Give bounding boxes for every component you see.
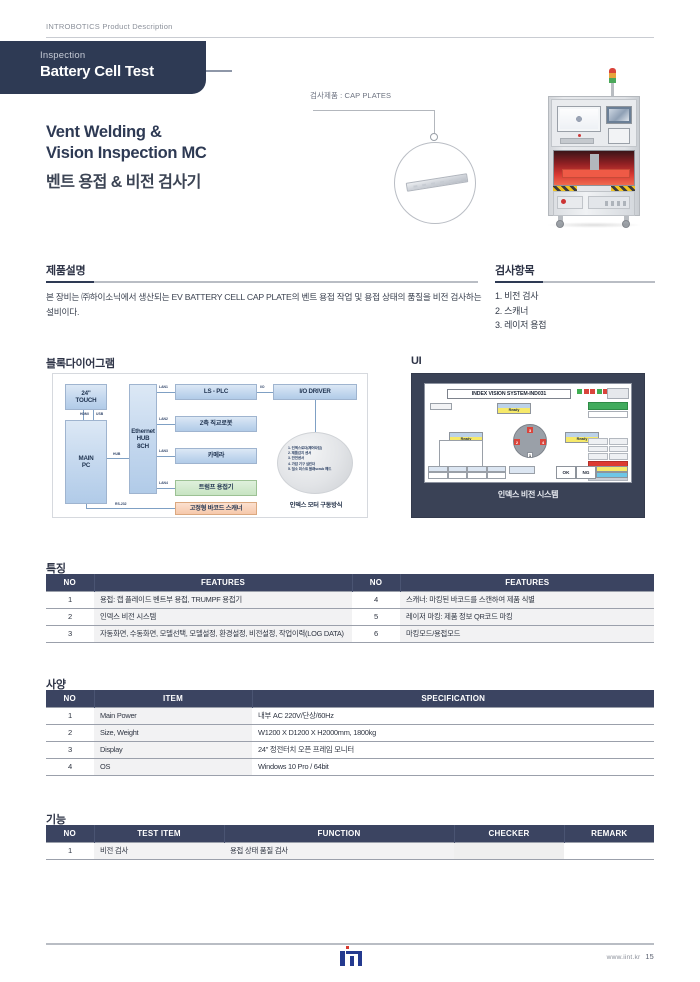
page-title: Vent Welding & Vision Inspection MC	[46, 122, 207, 164]
page-title-line2: Vision Inspection MC	[46, 144, 207, 162]
cell-no: 3	[46, 625, 94, 642]
block-diagram-heading: 블록다이어그램	[46, 355, 115, 371]
cell-no: 1	[46, 591, 94, 608]
block-diagram: HDMI USB HUB LAN1 LAN2 LAN3 LAN4 RS-232 …	[52, 373, 368, 518]
column-header-function: FUNCTION	[224, 825, 454, 842]
cell-remark	[564, 842, 654, 859]
product-description-heading: 제품설명	[46, 262, 85, 278]
cell-no: 2	[46, 724, 94, 741]
column-header-remark: REMARK	[564, 825, 654, 842]
cell-no-2: 6	[352, 625, 400, 642]
machine-side-display	[606, 106, 632, 124]
diagram-node-main-pc: MAIN PC	[65, 420, 107, 504]
ui-caption: 인덱스 비전 시스템	[411, 489, 645, 500]
footer-meta: www.iint.kr15	[607, 952, 654, 961]
column-header-no: NO	[46, 825, 94, 842]
link-label-io: I/O	[260, 385, 265, 389]
table-header-row: NO TEST ITEM FUNCTION CHECKER REMARK	[46, 825, 654, 842]
diagram-circle-item: 5. 질소 미스트 블래scrub 헤드	[288, 467, 346, 472]
diagram-node-io-driver: I/O DRIVER	[273, 384, 357, 400]
link-label-hdmi: HDMI	[80, 412, 89, 416]
cell-feature-2: 스캐너: 마킹된 바코드를 스캔하여 제품 식별	[400, 591, 654, 608]
ui-index-pos-1: 1	[527, 452, 533, 458]
ui-screen-title: INDEX VISION SYSTEM-IND031	[447, 389, 571, 399]
features-table: NO FEATURES NO FEATURES 1 용접: 캡 플레이드 벤트부…	[46, 574, 654, 643]
cell-feature: 용접: 캡 플레이드 벤트부 용접, TRUMPF 용접기	[94, 591, 352, 608]
column-header-no: NO	[46, 690, 94, 707]
cell-feature-2: 레이저 마킹: 제품 정보 QR코드 마킹	[400, 608, 654, 625]
cell-function: 용접 상태 품질 검사	[224, 842, 454, 859]
header-divider	[46, 37, 654, 38]
banner-title: Battery Cell Test	[40, 63, 154, 80]
ui-index-pos-3: 3	[527, 427, 533, 433]
cell-no: 2	[46, 608, 94, 625]
link-touch-pc-2	[93, 410, 94, 420]
link-label-lan2: LAN2	[159, 417, 168, 421]
link-pc-scanner-drop	[86, 504, 87, 509]
table-row: 1 용접: 캡 플레이드 벤트부 용접, TRUMPF 용접기 4 스캐너: 마…	[46, 591, 654, 608]
ui-start-stop-buttons[interactable]	[596, 466, 628, 479]
cell-specification: Windows 10 Pro / 64bit	[252, 758, 654, 775]
inspection-items-heading: 검사항목	[495, 262, 534, 278]
footer-page-number: 15	[645, 952, 654, 961]
cell-item: Main Power	[94, 707, 252, 724]
diagram-node-camera: 카메라	[175, 448, 257, 464]
inspection-item: 3. 레이저 용접	[495, 318, 546, 333]
link-hub-welder	[157, 488, 175, 489]
machine-shadow	[546, 222, 642, 228]
cell-specification: 24" 정전터치 오픈 프레임 모니터	[252, 741, 654, 758]
table-header-row: NO ITEM SPECIFICATION	[46, 690, 654, 707]
column-header-features-2: FEATURES	[400, 574, 654, 591]
machine-control-box-2	[588, 196, 630, 209]
column-header-item: ITEM	[94, 690, 252, 707]
link-hub-zrobot	[157, 424, 175, 425]
column-header-no: NO	[46, 574, 94, 591]
diagram-circle-caption: 인덱스 모터 구동방식	[275, 500, 357, 509]
page-title-line1: Vent Welding &	[46, 123, 162, 141]
ui-counter-table	[428, 466, 506, 479]
table-row: 3 자동화면, 수동화면, 모델선택, 모델설정, 환경설정, 비전설정, 작업…	[46, 625, 654, 642]
ui-index-pos-2: 2	[514, 439, 520, 445]
cell-specification: W1200 X D1200 X H2000mm, 1800kg	[252, 724, 654, 741]
link-label-usb: USB	[96, 412, 103, 416]
callout-leader-vertical	[434, 110, 435, 135]
column-header-checker: CHECKER	[454, 825, 564, 842]
table-row: 1 비전 검사 용접 상태 품질 검사	[46, 842, 654, 859]
page-title-korean: 벤트 용접 & 비전 검사기	[46, 168, 201, 192]
callout-anchor-dot-icon	[430, 133, 438, 141]
cell-feature: 인덱스 비전 시스템	[94, 608, 352, 625]
ui-mode-tab	[430, 403, 452, 410]
diagram-node-touch: 24" TOUCH	[65, 384, 107, 410]
ui-ng-button[interactable]: NG	[576, 466, 596, 479]
cell-feature-2: 마킹모드/용접모드	[400, 625, 654, 642]
machine-work-chamber	[553, 150, 635, 186]
footer-url: www.iint.kr	[607, 954, 641, 961]
ui-index-pos-4: 4	[540, 439, 546, 445]
ui-station-top: Ready	[497, 403, 531, 414]
inspection-items-rule	[495, 281, 655, 283]
footer-divider	[46, 943, 654, 945]
link-label-lan3: LAN3	[159, 449, 168, 453]
diagram-node-welder: 트럼프 용접기	[175, 480, 257, 496]
machine-slot	[560, 138, 594, 144]
table-row: 3 Display 24" 정전터치 오픈 프레임 모니터	[46, 741, 654, 758]
table-row: 1 Main Power 내부 AC 220V/단상/60Hz	[46, 707, 654, 724]
ui-section-heading: UI	[411, 355, 421, 367]
cell-test-item: 비전 검사	[94, 842, 224, 859]
ui-toolbar-buttons	[607, 388, 629, 399]
document-kicker: INTROBOTICS Product Description	[46, 22, 173, 31]
cell-item: Size, Weight	[94, 724, 252, 741]
cell-checker	[454, 842, 564, 859]
banner-tail-line	[206, 70, 232, 72]
column-header-test-item: TEST ITEM	[94, 825, 224, 842]
callout-label: 검사제품 : CAP PLATES	[310, 90, 391, 101]
diagram-node-scanner: 고정형 바코드 스캐너	[175, 502, 257, 515]
ui-right-panel	[588, 402, 628, 465]
ui-ok-button[interactable]: OK	[556, 466, 576, 479]
cell-no-2: 5	[352, 608, 400, 625]
ui-result-row	[588, 411, 628, 418]
cell-item: Display	[94, 741, 252, 758]
product-description-rule	[46, 281, 478, 283]
machine-hmi-screen	[557, 106, 601, 132]
machine-secondary-panel	[608, 128, 630, 144]
column-header-no-2: NO	[352, 574, 400, 591]
link-label-hub: HUB	[113, 452, 120, 456]
inspection-item: 1. 비전 검사	[495, 289, 546, 304]
banner-subtitle: Inspection	[40, 50, 85, 61]
company-logo	[340, 946, 362, 966]
cell-specification: 내부 AC 220V/단상/60Hz	[252, 707, 654, 724]
cell-no: 1	[46, 842, 94, 859]
callout-leader-horizontal	[313, 110, 435, 111]
cell-no: 1	[46, 707, 94, 724]
diagram-node-z-robot: Z축 직교로봇	[175, 416, 257, 432]
table-row: 4 OS Windows 10 Pro / 64bit	[46, 758, 654, 775]
cell-no-2: 4	[352, 591, 400, 608]
link-plc-io	[257, 392, 273, 393]
ui-station-top-status: Ready	[498, 408, 530, 413]
diagram-node-plc: LS - PLC	[175, 384, 257, 400]
product-description-body: 본 장비는 ㈜하이소닉에서 생산되는 EV BATTERY CELL CAP P…	[46, 290, 482, 320]
link-label-lan1: LAN1	[159, 385, 168, 389]
emergency-stop-icon	[561, 199, 566, 204]
cell-feature: 자동화면, 수동화면, 모델선택, 모델설정, 환경설정, 비전설정, 작업이력…	[94, 625, 352, 642]
cell-item: OS	[94, 758, 252, 775]
ui-bottom-bar: OK NG	[428, 466, 628, 479]
section-banner: Inspection Battery Cell Test	[0, 41, 206, 94]
diagram-circle: 1. 인덱스로더(제어타입) 2. 제품감지 센서 3. 안전센서 4. 가압 …	[277, 432, 353, 494]
machine-indicator-icon	[578, 134, 581, 137]
link-pc-scanner	[86, 508, 175, 509]
link-label-rs232: RS-232	[115, 502, 127, 506]
link-hub-camera	[157, 456, 175, 457]
ui-image-preview	[439, 440, 483, 468]
column-header-features: FEATURES	[94, 574, 352, 591]
link-io-circle	[315, 400, 316, 432]
ui-judgement: OK NG	[556, 466, 596, 479]
link-pc-hub	[107, 458, 129, 459]
machine-photo	[540, 62, 648, 227]
inspection-items-list: 1. 비전 검사 2. 스캐너 3. 레이저 용접	[495, 289, 546, 333]
page: INTROBOTICS Product Description Inspecti…	[0, 0, 700, 982]
column-header-specification: SPECIFICATION	[252, 690, 654, 707]
inspection-item: 2. 스캐너	[495, 304, 546, 319]
cell-no: 3	[46, 741, 94, 758]
signal-tower-icon	[609, 68, 616, 98]
ui-count-grid	[588, 438, 628, 460]
function-table: NO TEST ITEM FUNCTION CHECKER REMARK 1 비…	[46, 825, 654, 860]
specification-table: NO ITEM SPECIFICATION 1 Main Power 내부 AC…	[46, 690, 654, 776]
table-row: 2 인덱스 비전 시스템 5 레이저 마킹: 제품 정보 QR코드 마킹	[46, 608, 654, 625]
cell-no: 4	[46, 758, 94, 775]
diagram-node-ethernet-hub: Ethernet HUB 8CH	[129, 384, 157, 494]
ui-result-banner	[588, 402, 628, 410]
table-row: 2 Size, Weight W1200 X D1200 X H2000mm, …	[46, 724, 654, 741]
table-header-row: NO FEATURES NO FEATURES	[46, 574, 654, 591]
link-label-lan4: LAN4	[159, 481, 168, 485]
ui-screenshot: INDEX VISION SYSTEM-IND031 Ready Ready R…	[424, 383, 632, 483]
link-hub-plc	[157, 392, 175, 393]
